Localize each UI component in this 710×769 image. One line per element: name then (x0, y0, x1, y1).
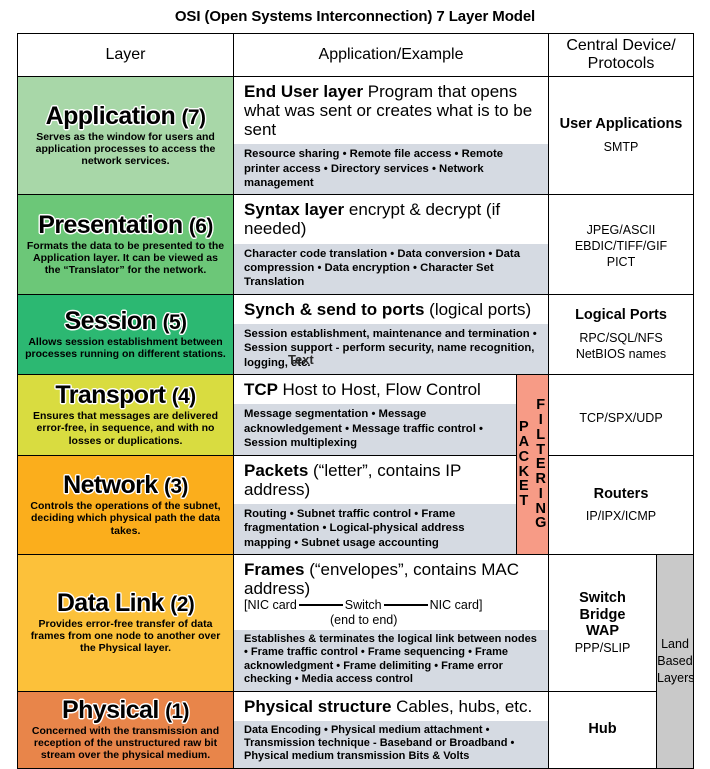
land-based-layers-cell: Land Based Layers (657, 555, 694, 769)
layer-title-application: Application (46, 102, 176, 130)
device-name-network: Routers (549, 486, 693, 503)
example-cell-session: Synch & send to ports (logical ports) Se… (234, 294, 549, 374)
table-row-transport: Transport (4) Ensures that messages are … (18, 375, 694, 455)
layer-title-presentation: Presentation (38, 211, 182, 239)
layer-name-transport: Transport (4) (18, 383, 233, 408)
layer-number-application: (7) (182, 106, 206, 129)
header-application: Application/Example (234, 34, 549, 77)
layer-name-presentation: Presentation (6) (18, 213, 233, 238)
land-based-line1: Land (657, 636, 693, 653)
header-central-device: Central Device/ Protocols (549, 34, 694, 77)
example-headline-physical: Physical structure Cables, hubs, etc. (234, 692, 548, 721)
layer-title-datalink: Data Link (57, 589, 164, 617)
example-bullets-transport: Message segmentation • Message acknowled… (234, 404, 516, 454)
example-bold-datalink: Frames (244, 560, 304, 579)
layer-cell-transport: Transport (4) Ensures that messages are … (18, 375, 234, 455)
layer-description-physical: Concerned with the transmission and rece… (18, 725, 233, 762)
layer-description-network: Controls the operations of the subnet, d… (18, 500, 233, 537)
header-layer: Layer (18, 34, 234, 77)
layer-number-network: (3) (164, 475, 188, 498)
example-bullets-application: Resource sharing • Remote file access • … (234, 144, 548, 194)
device-protocol-presentation-1: JPEG/ASCII (549, 223, 693, 238)
example-bullets-network: Routing • Subnet traffic control • Frame… (234, 504, 516, 554)
example-headline-network: Packets (“letter”, contains IP address) (234, 456, 516, 504)
example-headline-application: End User layer Program that opens what w… (234, 77, 548, 144)
layer-cell-application: Application (7) Serves as the window for… (18, 77, 234, 195)
example-headline-datalink: Frames (“envelopes”, contains MAC addres… (234, 555, 548, 598)
table-header-row: Layer Application/Example Central Device… (18, 34, 694, 77)
device-cell-application: User Applications SMTP (549, 77, 694, 195)
layer-number-datalink: (2) (170, 593, 194, 616)
nic-switch: Switch (345, 598, 382, 612)
osi-table: Layer Application/Example Central Device… (17, 33, 694, 769)
device-protocol-application: SMTP (549, 140, 693, 155)
example-bold-session: Synch & send to ports (244, 300, 424, 319)
device-name-session: Logical Ports (549, 307, 693, 324)
device-protocol-presentation-3: PICT (549, 255, 693, 270)
example-bullets-datalink: Establishes & terminates the logical lin… (234, 630, 548, 691)
example-cell-presentation: Syntax layer encrypt & decrypt (if neede… (234, 195, 549, 294)
device-name-datalink-1: Switch (549, 590, 656, 607)
example-bold-transport: TCP (244, 380, 278, 399)
example-cell-physical: Physical structure Cables, hubs, etc. Da… (234, 691, 549, 768)
example-headline-transport: TCP Host to Host, Flow Control (234, 375, 516, 404)
table-row-datalink: Data Link (2) Provides error-free transf… (18, 555, 694, 691)
example-cell-application: End User layer Program that opens what w… (234, 77, 549, 195)
nic-line-left-icon (299, 604, 343, 606)
example-bullets-session: Session establishment, maintenance and t… (234, 324, 548, 374)
layer-description-datalink: Provides error-free transfer of data fra… (18, 618, 233, 655)
nic-close-bracket: NIC card] (430, 598, 483, 612)
example-bullets-physical: Data Encoding • Physical medium attachme… (234, 721, 548, 768)
land-based-line3: Layers (657, 670, 693, 687)
header-central-device-line1: Central Device/ (549, 37, 693, 55)
example-bold-application: End User layer (244, 82, 363, 101)
packet-filtering-strip: PACKET FILTERING (517, 375, 549, 555)
layer-cell-presentation: Presentation (6) Formats the data to be … (18, 195, 234, 294)
layer-name-session: Session (5) (18, 309, 233, 334)
layer-number-presentation: (6) (189, 215, 213, 238)
device-protocol-transport: TCP/SPX/UDP (549, 411, 693, 426)
device-name-datalink-2: Bridge (549, 607, 656, 624)
layer-title-network: Network (63, 471, 157, 499)
example-cell-transport: TCP Host to Host, Flow Control Message s… (234, 375, 517, 455)
packet-word: PACKET (519, 420, 529, 509)
layer-number-physical: (1) (165, 700, 189, 723)
filtering-word: FILTERING (535, 398, 546, 531)
nic-line-right-icon (384, 604, 428, 606)
nic-end-to-end: (end to end) (330, 613, 397, 627)
example-light-transport: Host to Host, Flow Control (282, 380, 480, 399)
layer-cell-physical: Physical (1) Concerned with the transmis… (18, 691, 234, 768)
example-bullets-presentation: Character code translation • Data conver… (234, 244, 548, 294)
table-row-physical: Physical (1) Concerned with the transmis… (18, 691, 694, 768)
layer-name-application: Application (7) (18, 104, 233, 129)
device-protocol-presentation-2: EBDIC/TIFF/GIF (549, 239, 693, 254)
layer-description-transport: Ensures that messages are delivered erro… (18, 410, 233, 447)
example-light-physical: Cables, hubs, etc. (396, 697, 532, 716)
layer-number-session: (5) (163, 311, 187, 334)
land-based-line2: Based (657, 653, 693, 670)
device-protocol-datalink: PPP/SLIP (549, 641, 656, 656)
layer-description-presentation: Formats the data to be presented to the … (18, 240, 233, 277)
layer-number-transport: (4) (172, 385, 196, 408)
device-cell-network: Routers IP/IPX/ICMP (549, 455, 694, 554)
device-protocol-network: IP/IPX/ICMP (549, 509, 693, 524)
example-headline-session: Synch & send to ports (logical ports) (234, 295, 548, 324)
device-cell-presentation: JPEG/ASCII EBDIC/TIFF/GIF PICT (549, 195, 694, 294)
example-cell-datalink: Frames (“envelopes”, contains MAC addres… (234, 555, 549, 691)
example-cell-network: Packets (“letter”, contains IP address) … (234, 455, 517, 554)
device-cell-physical: Hub (549, 691, 657, 768)
layer-title-transport: Transport (55, 381, 165, 409)
osi-diagram: OSI (Open Systems Interconnection) 7 Lay… (0, 0, 710, 619)
device-protocol-session-2: NetBIOS names (549, 347, 693, 362)
layer-cell-session: Session (5) Allows session establishment… (18, 294, 234, 374)
table-row-session: Session (5) Allows session establishment… (18, 294, 694, 374)
layer-cell-network: Network (3) Controls the operations of t… (18, 455, 234, 554)
example-headline-presentation: Syntax layer encrypt & decrypt (if neede… (234, 195, 548, 243)
header-central-device-line2: Protocols (549, 55, 693, 73)
layer-name-datalink: Data Link (2) (18, 591, 233, 616)
example-light-session: (logical ports) (429, 300, 531, 319)
device-cell-session: Logical Ports RPC/SQL/NFS NetBIOS names (549, 294, 694, 374)
example-bold-network: Packets (244, 461, 308, 480)
example-bold-physical: Physical structure (244, 697, 391, 716)
device-cell-datalink: Switch Bridge WAP PPP/SLIP (549, 555, 657, 691)
layer-description-application: Serves as the window for users and appli… (18, 131, 233, 168)
device-name-datalink-3: WAP (549, 623, 656, 640)
layer-title-physical: Physical (62, 696, 159, 724)
device-name-application: User Applications (549, 116, 693, 133)
packet-filtering-wrap: PACKET FILTERING (517, 398, 548, 531)
layer-title-session: Session (65, 307, 157, 335)
layer-name-network: Network (3) (18, 473, 233, 498)
example-nic-path-datalink: [NIC cardSwitchNIC card](end to end) (234, 598, 548, 630)
table-row-application: Application (7) Serves as the window for… (18, 77, 694, 195)
page-title: OSI (Open Systems Interconnection) 7 Lay… (0, 8, 710, 25)
device-name-physical: Hub (549, 721, 656, 738)
layer-cell-datalink: Data Link (2) Provides error-free transf… (18, 555, 234, 691)
example-bold-presentation: Syntax layer (244, 200, 344, 219)
device-cell-transport: TCP/SPX/UDP (549, 375, 694, 455)
layer-name-physical: Physical (1) (18, 698, 233, 723)
device-protocol-session-1: RPC/SQL/NFS (549, 331, 693, 346)
table-row-presentation: Presentation (6) Formats the data to be … (18, 195, 694, 294)
nic-open-bracket: [NIC card (244, 598, 297, 612)
layer-description-session: Allows session establishment between pro… (18, 336, 233, 361)
table-row-network: Network (3) Controls the operations of t… (18, 455, 694, 554)
